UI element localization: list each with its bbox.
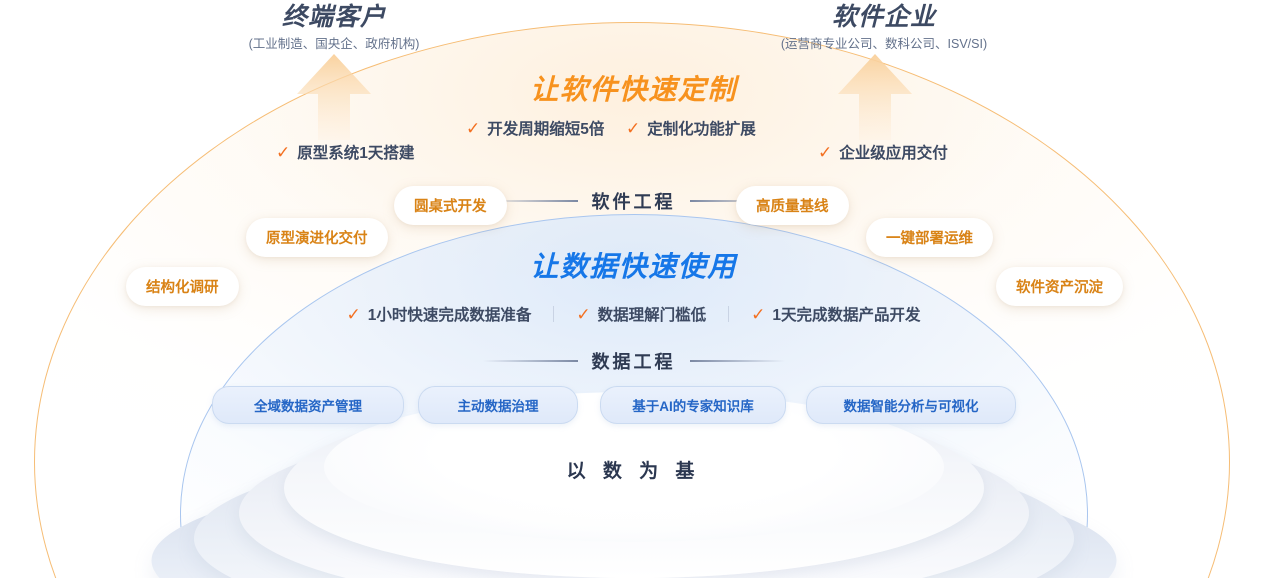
data-capability-pill[interactable]: 全域数据资产管理 <box>212 386 404 424</box>
software-feature-label: 定制化功能扩展 <box>647 117 756 139</box>
software-engineering-label: 软件工程 <box>592 188 676 214</box>
actor-end-customer: 终端客户 (工业制造、国央企、政府机构) <box>174 2 494 52</box>
software-layer-title: 让软件快速定制 <box>0 68 1267 108</box>
software-feature-item: ✓ 定制化功能扩展 <box>626 117 756 139</box>
foundation-label: 以 数 为 基 <box>0 456 1267 483</box>
data-feature-item: ✓ 1小时快速完成数据准备 <box>324 303 553 325</box>
actor-subtitle: (运营商专业公司、数科公司、ISV/SI) <box>724 36 1044 52</box>
check-icon: ✓ <box>276 144 290 161</box>
check-icon: ✓ <box>576 306 590 323</box>
actor-subtitle: (工业制造、国央企、政府机构) <box>174 36 494 52</box>
actor-title: 软件企业 <box>724 2 1044 32</box>
data-feature-item: ✓ 数据理解门槛低 <box>554 303 728 325</box>
data-capability-pill[interactable]: 基于AI的专家知识库 <box>600 386 786 424</box>
actor-title: 终端客户 <box>174 2 494 32</box>
data-capability-pill[interactable]: 主动数据治理 <box>418 386 578 424</box>
data-feature-item: ✓ 1天完成数据产品开发 <box>729 303 942 325</box>
software-capability-pill[interactable]: 高质量基线 <box>736 186 849 225</box>
software-feature-label: 原型系统1天搭建 <box>297 141 414 163</box>
check-icon: ✓ <box>346 306 360 323</box>
data-feature-row: ✓ 1小时快速完成数据准备 ✓ 数据理解门槛低 ✓ 1天完成数据产品开发 <box>0 303 1267 325</box>
data-engineering-label-group: 数据工程 <box>0 348 1267 374</box>
divider-line-left <box>483 360 578 362</box>
data-engineering-label: 数据工程 <box>592 348 676 374</box>
check-icon: ✓ <box>626 120 640 137</box>
software-feature-item: ✓ 原型系统1天搭建 <box>276 141 414 163</box>
data-feature-label: 数据理解门槛低 <box>598 303 707 325</box>
divider-line-right <box>690 360 785 362</box>
data-feature-label: 1天完成数据产品开发 <box>772 303 920 325</box>
software-feature-label: 企业级应用交付 <box>839 141 948 163</box>
check-icon: ✓ <box>818 144 832 161</box>
data-layer-title: 让数据快速使用 <box>0 245 1267 285</box>
software-engineering-label-group: 软件工程 <box>0 188 1267 214</box>
software-feature-item: ✓ 开发周期缩短5倍 <box>466 117 604 139</box>
check-icon: ✓ <box>466 120 480 137</box>
actor-software-enterprise: 软件企业 (运营商专业公司、数科公司、ISV/SI) <box>724 2 1044 52</box>
software-feature-label: 开发周期缩短5倍 <box>487 117 604 139</box>
software-feature-item: ✓ 企业级应用交付 <box>818 141 948 163</box>
data-feature-label: 1小时快速完成数据准备 <box>368 303 532 325</box>
data-capability-pill[interactable]: 数据智能分析与可视化 <box>806 386 1016 424</box>
check-icon: ✓ <box>751 306 765 323</box>
diagram-canvas: 终端客户 (工业制造、国央企、政府机构) 软件企业 (运营商专业公司、数科公司、… <box>0 0 1267 578</box>
software-capability-pill[interactable]: 圆桌式开发 <box>394 186 507 225</box>
